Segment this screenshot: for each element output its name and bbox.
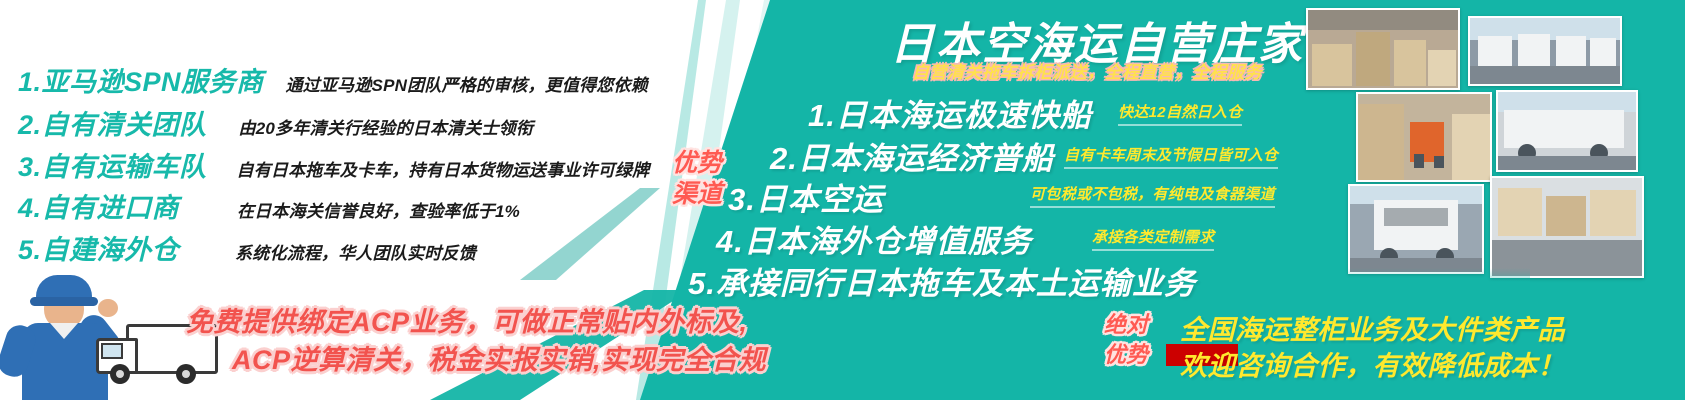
- photo-truck-side-view: [1496, 90, 1638, 172]
- photo-truck-fleet-yard: [1468, 16, 1622, 86]
- feature-row: 5.自建海外仓 系统化流程，华人团队实时反馈: [18, 228, 476, 267]
- feature-row: 3.自有运输车队 自有日本拖车及卡车，持有日本货物运送事业许可绿牌: [18, 145, 649, 184]
- advantage-badge-line-2: 渠道: [672, 180, 722, 208]
- photo-warehouse-pallets: [1306, 8, 1460, 90]
- service-note-2: 自有卡车周末及节假日皆可入仓: [1064, 144, 1278, 169]
- feature-title: 1.亚马逊SPN服务商: [18, 60, 264, 99]
- service-note-1: 快达12自然日入仓: [1118, 101, 1242, 126]
- service-item-2: 2.日本海运经济普船: [770, 133, 1054, 178]
- absolute-advantage-badge: 绝对 优势: [1104, 310, 1148, 370]
- feature-title: 3.自有运输车队: [18, 145, 207, 184]
- feature-description: 由20多年清关行经验的日本清关士领衔: [239, 114, 534, 139]
- feature-title: 4.自有进口商: [18, 186, 179, 225]
- promo-banner: 1.亚马逊SPN服务商 通过亚马逊SPN团队严格的审核，更值得您依赖 2.自有清…: [0, 0, 1685, 400]
- advantage-channel-badge: 优势 渠道: [672, 148, 722, 210]
- service-item-4: 4.日本海外仓增值服务: [716, 216, 1032, 261]
- truck-wheel-rear: [176, 364, 196, 384]
- service-note-4: 承接各类定制需求: [1092, 226, 1214, 251]
- feature-row: 1.亚马逊SPN服务商 通过亚马逊SPN团队严格的审核，更值得您依赖: [18, 60, 648, 99]
- feature-row: 2.自有清关团队 由20多年清关行经验的日本清关士领衔: [18, 103, 533, 142]
- photo-collage-fade: [1300, 268, 1530, 312]
- feature-description: 在日本海关信誉良好，查验率低于1%: [237, 197, 520, 222]
- service-note-3: 可包税或不包税，有纯电及食器渠道: [1030, 183, 1275, 208]
- truck-wheel-front: [110, 364, 130, 384]
- photo-white-truck-front: [1348, 184, 1484, 274]
- advantage-badge-line-1: 优势: [672, 149, 722, 177]
- bottom-right-line-2: 欢迎咨询合作，有效降低成本！: [1180, 344, 1565, 383]
- banner-subheadline: 自营清关拖车拆柜派送，全程直营，全程服务: [912, 58, 1262, 83]
- photo-cargo-boxes-stacked: [1490, 176, 1644, 278]
- service-item-5: 5.承接同行日本拖车及本土运输业务: [688, 258, 1196, 303]
- service-item-1: 1.日本海运极速快船: [808, 90, 1092, 135]
- feature-description: 系统化流程，华人团队实时反馈: [235, 239, 476, 264]
- absolute-badge-line-2: 优势: [1104, 342, 1148, 367]
- worker-helmet-brim: [30, 297, 98, 306]
- acp-copy-line-2: ACP逆算清关，税金实报实销,实现完全合规: [232, 338, 766, 377]
- truck-window: [101, 343, 123, 359]
- feature-description: 通过亚马逊SPN团队严格的审核，更值得您依赖: [286, 71, 648, 96]
- feature-description: 自有日本拖车及卡车，持有日本货物运送事业许可绿牌: [237, 156, 650, 181]
- absolute-badge-line-1: 绝对: [1104, 312, 1148, 337]
- feature-title: 2.自有清关团队: [18, 103, 207, 142]
- feature-row: 4.自有进口商 在日本海关信誉良好，查验率低于1%: [18, 186, 520, 225]
- photo-forklift-loading: [1356, 92, 1492, 182]
- feature-title: 5.自建海外仓: [18, 228, 179, 267]
- acp-copy-line-1: 免费提供绑定ACP业务，可做正常贴内外标及,: [186, 300, 748, 339]
- bottom-right-line-1: 全国海运整柜业务及大件类产品: [1180, 308, 1565, 347]
- photo-collage: [1300, 4, 1682, 300]
- service-item-3: 3.日本空运: [728, 174, 884, 219]
